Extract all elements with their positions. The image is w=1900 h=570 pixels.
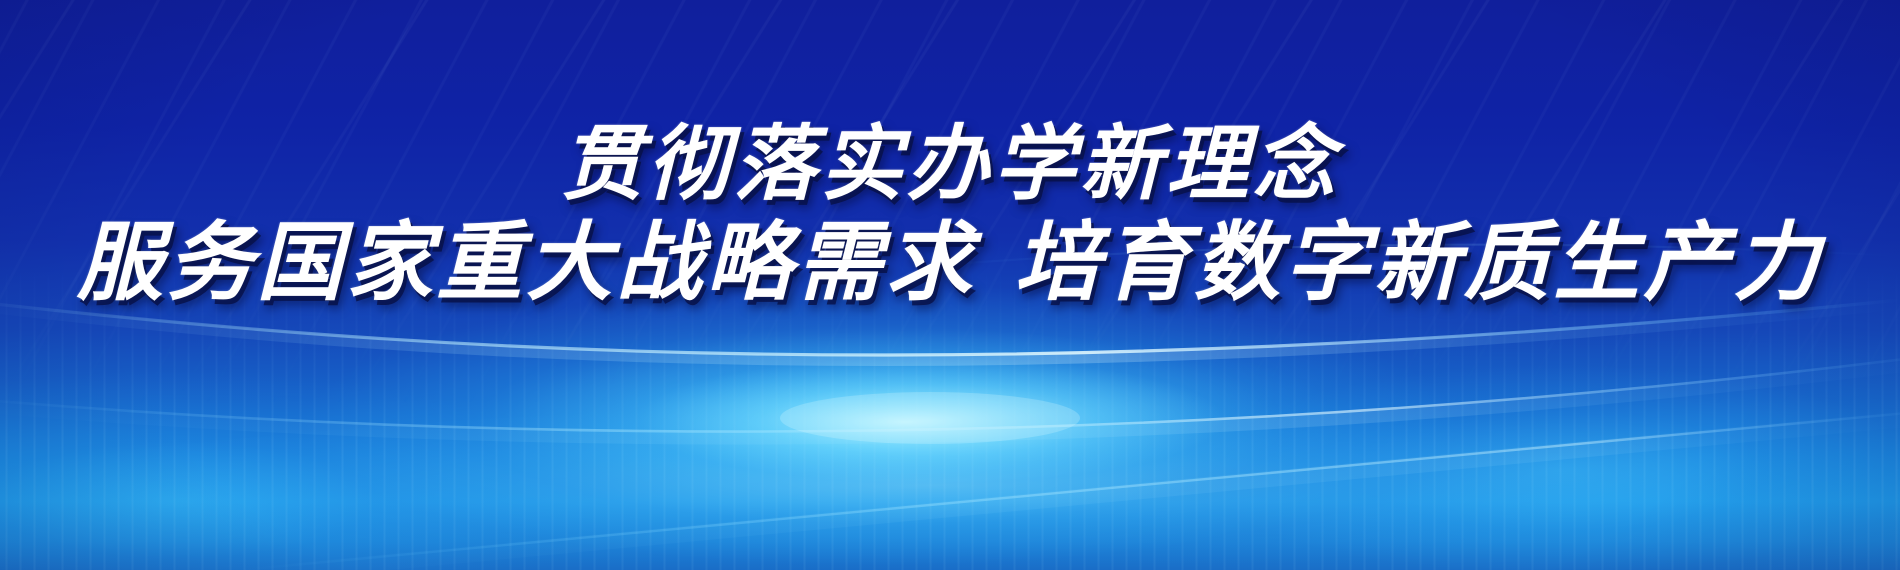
headline-block: 贯彻落实办学新理念 服务国家重大战略需求培育数字新质生产力	[0, 0, 1900, 570]
headline-line-1: 贯彻落实办学新理念	[561, 124, 1340, 206]
headline-line-2: 服务国家重大战略需求培育数字新质生产力	[77, 220, 1823, 306]
headline-line-2-part-2: 培育数字新质生产力	[1014, 215, 1823, 311]
headline-line-2-part-1: 服务国家重大战略需求	[77, 215, 976, 311]
banner-root: 贯彻落实办学新理念 服务国家重大战略需求培育数字新质生产力	[0, 0, 1900, 570]
